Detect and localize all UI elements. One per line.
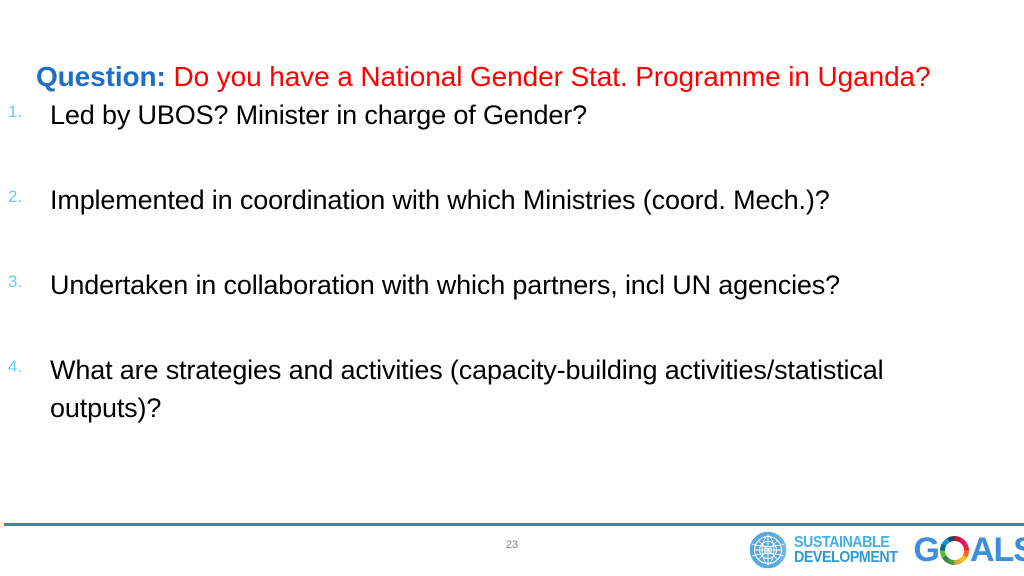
sdg-line-sustainable: SUSTAINABLE [794,535,897,550]
goals-letter-g: G [913,533,938,567]
list-item-text: Led by UBOS? Minister in charge of Gende… [50,100,615,130]
list-item-text: What are strategies and activities (capa… [50,355,883,423]
title-question-label: Question: [36,61,166,92]
list-item-text: Implemented in coordination with which M… [50,185,858,215]
list-item: 4. What are strategies and activities (c… [0,351,1024,427]
sdg-wordmark: SUSTAINABLE DEVELOPMENT G [794,533,1024,567]
list-item-text: Undertaken in collaboration with which p… [50,270,868,300]
list-item-number: 2. [8,187,38,207]
list-item: 1. Led by UBOS? Minister in charge of Ge… [0,96,1024,138]
sdg-color-wheel-icon [940,536,969,565]
slide: Question: Do you have a National Gender … [0,0,1024,576]
un-emblem-icon [748,530,788,570]
list-item-number: 1. [8,102,38,122]
list-item: 2. Implemented in coordination with whic… [0,181,1024,223]
page-title: Question: Do you have a National Gender … [36,60,1016,94]
footer-divider [4,523,1024,526]
sdg-goals-wordmark: G [913,533,1024,567]
list-item: 3. Undertaken in collaboration with whic… [0,266,1024,308]
sdg-logo: SUSTAINABLE DEVELOPMENT G [748,528,1020,572]
goals-letters-als: ALS [970,533,1024,567]
numbered-list: 1. Led by UBOS? Minister in charge of Ge… [0,96,1024,427]
sdg-line-development: DEVELOPMENT [794,550,897,565]
list-item-number: 3. [8,272,38,292]
list-item-number: 4. [8,357,38,377]
title-question-text: Do you have a National Gender Stat. Prog… [166,61,931,92]
sdg-wordmark-lines: SUSTAINABLE DEVELOPMENT [794,535,906,565]
